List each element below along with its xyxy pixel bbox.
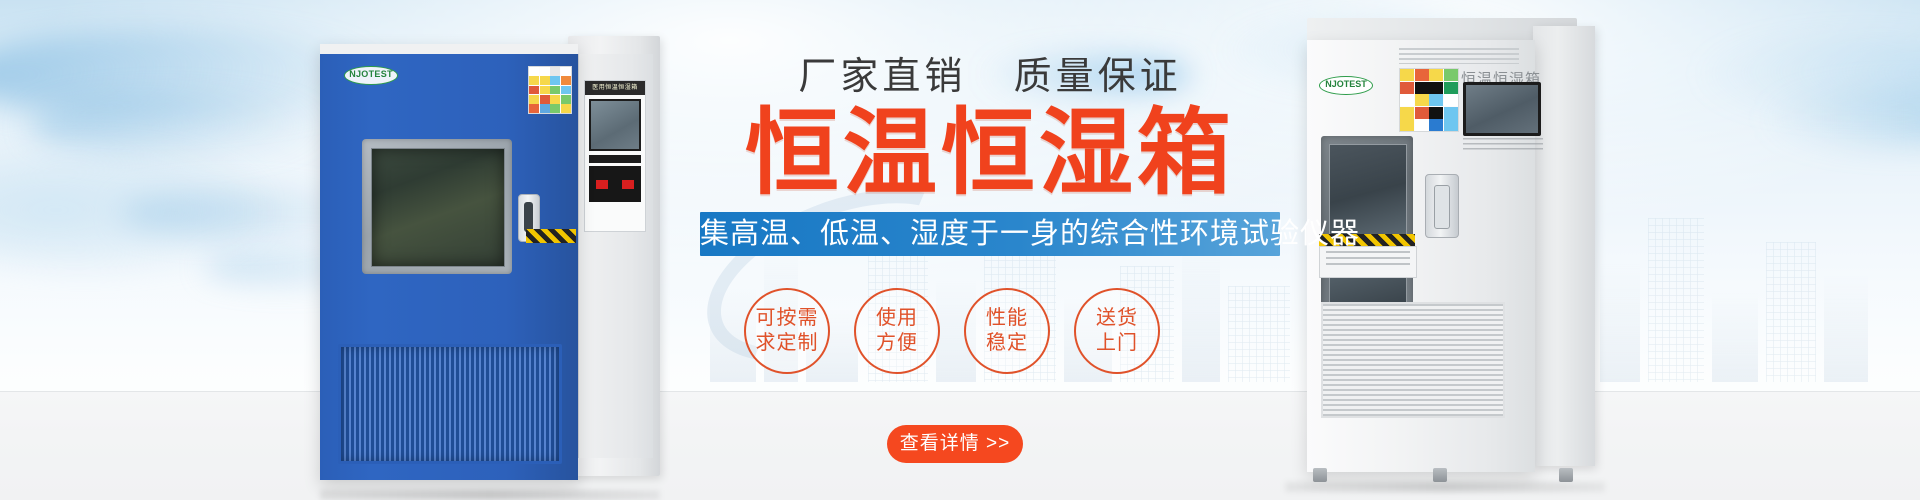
spec-plate xyxy=(1319,246,1417,278)
chamber-door xyxy=(362,139,512,274)
feature-badge-custom[interactable]: 可按需 求定制 xyxy=(744,288,830,374)
product-image-blue-chamber: 医用恒温恒湿箱 NJOTEST xyxy=(320,36,660,492)
product-image-gray-chamber: NJOTEST 恒温恒湿箱 xyxy=(1255,18,1605,488)
badge-line-1: 使用 xyxy=(876,306,918,331)
brand-logo: NJOTEST xyxy=(344,66,398,85)
machine-front-body: NJOTEST 恒温恒湿箱 xyxy=(1307,40,1535,472)
brand-logo: NJOTEST xyxy=(1319,76,1373,95)
badge-line-1: 性能 xyxy=(986,306,1028,331)
headline-block: 厂家直销 质量保证 恒温恒湿箱 集高温、低温、湿度于一身的综合性环境试验仪器 xyxy=(700,56,1280,256)
machine-side-panel: 医用恒温恒湿箱 xyxy=(568,36,660,476)
machine-shadow xyxy=(320,490,660,500)
top-vent-slots xyxy=(1399,48,1519,64)
subtitle-bar: 集高温、低温、湿度于一身的综合性环境试验仪器 xyxy=(700,212,1280,256)
eyebrow-tagline: 厂家直销 质量保证 xyxy=(700,56,1280,99)
lower-ventilation-grille xyxy=(338,344,562,464)
machine-legs xyxy=(1313,468,1575,482)
badge-line-2: 求定制 xyxy=(756,331,819,356)
control-strip xyxy=(589,155,641,163)
control-panel: 医用恒温恒湿箱 xyxy=(584,80,646,232)
manufacturer-text-block xyxy=(1463,138,1543,152)
machine-shadow xyxy=(1285,482,1605,492)
badge-line-1: 送货 xyxy=(1096,306,1138,331)
feature-badge-delivery[interactable]: 送货 上门 xyxy=(1074,288,1160,374)
safety-label-sticker xyxy=(528,66,572,114)
control-screen xyxy=(1463,82,1541,136)
badge-line-2: 上门 xyxy=(1096,331,1138,356)
feature-badge-stable[interactable]: 性能 稳定 xyxy=(964,288,1050,374)
feature-badge-easy-use[interactable]: 使用 方便 xyxy=(854,288,940,374)
main-headline: 恒温恒湿箱 xyxy=(700,103,1280,203)
badge-line-1: 可按需 xyxy=(756,306,819,331)
door-handle xyxy=(1425,174,1459,238)
badge-line-2: 方便 xyxy=(876,331,918,356)
eyebrow-left-text: 厂家直销 xyxy=(798,56,966,98)
promo-banner: 医用恒温恒湿箱 NJOTEST xyxy=(0,0,1920,500)
control-panel-title: 医用恒温恒湿箱 xyxy=(585,81,645,95)
safety-label-sticker xyxy=(1399,68,1459,132)
control-indicator-lights xyxy=(589,166,641,202)
machine-side-panel xyxy=(1533,26,1595,466)
badge-line-2: 稳定 xyxy=(986,331,1028,356)
control-screen xyxy=(589,99,641,151)
hazard-stripe-label xyxy=(526,229,576,243)
eyebrow-right-text: 质量保证 xyxy=(1014,56,1182,98)
feature-badge-group: 可按需 求定制 使用 方便 性能 稳定 送货 上门 xyxy=(744,288,1160,374)
machine-front-body: NJOTEST xyxy=(320,44,578,480)
chamber-window-glass xyxy=(371,148,505,267)
view-details-button[interactable]: 查看详情 >> xyxy=(887,425,1023,463)
lower-ventilation-grille xyxy=(1321,302,1505,418)
